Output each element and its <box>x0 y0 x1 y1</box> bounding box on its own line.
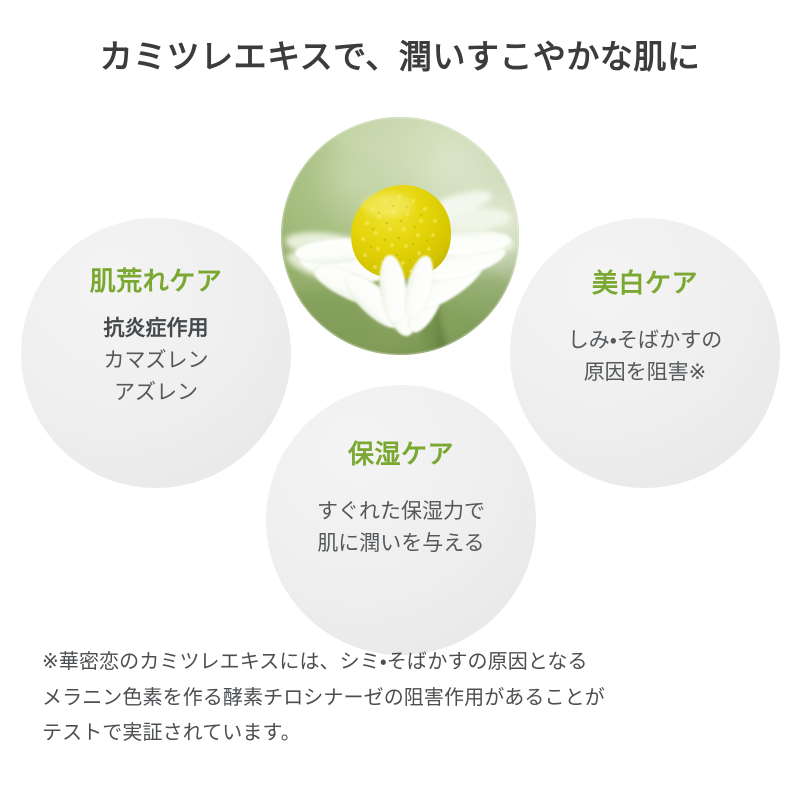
feature-heading-whitening-care: 美白ケア <box>592 268 698 299</box>
feature-line: 原因を阻害※ <box>568 357 723 389</box>
footnote-text: ※華密恋のカミツレエキスには、シミ・そばかすの原因となる メラニン色素を作る酵素… <box>42 645 762 752</box>
feature-line: 肌に潤いを与える <box>317 528 485 560</box>
chamomile-flower-photo <box>281 117 519 355</box>
feature-body-moisture-care: すぐれた保湿力で 肌に潤いを与える <box>317 496 485 560</box>
footnote-line-1: ※華密恋のカミツレエキスには、シミ・そばかすの原因となる <box>42 645 762 681</box>
feature-circle-whitening-care: 美白ケア しみ・そばかすの 原因を阻害※ <box>510 218 780 488</box>
feature-body-whitening-care: しみ・そばかすの 原因を阻害※ <box>568 325 723 389</box>
footnote-line-2: メラニン色素を作る酵素チロシナーゼの阻害作用があることが <box>42 681 762 717</box>
page-title: カミツレエキスで、潤いすこやかな肌に <box>0 36 800 77</box>
feature-line: しみ・そばかすの <box>568 325 723 357</box>
feature-line: 抗炎症作用 <box>104 313 209 345</box>
feature-circle-skin-trouble-care: 肌荒れケア 抗炎症作用 カマズレン アズレン <box>21 218 291 488</box>
infographic-root: カミツレエキスで、潤いすこやかな肌に <box>0 0 800 800</box>
feature-line: すぐれた保湿力で <box>317 496 485 528</box>
feature-body-skin-trouble-care: 抗炎症作用 カマズレン アズレン <box>104 313 209 409</box>
feature-line: アズレン <box>104 377 209 409</box>
feature-heading-moisture-care: 保湿ケア <box>348 439 454 470</box>
feature-line: カマズレン <box>104 345 209 377</box>
footnote-line-3: テストで実証されています。 <box>42 716 762 752</box>
feature-circle-moisture-care: 保湿ケア すぐれた保湿力で 肌に潤いを与える <box>266 385 536 655</box>
feature-heading-skin-trouble-care: 肌荒れケア <box>90 266 223 297</box>
